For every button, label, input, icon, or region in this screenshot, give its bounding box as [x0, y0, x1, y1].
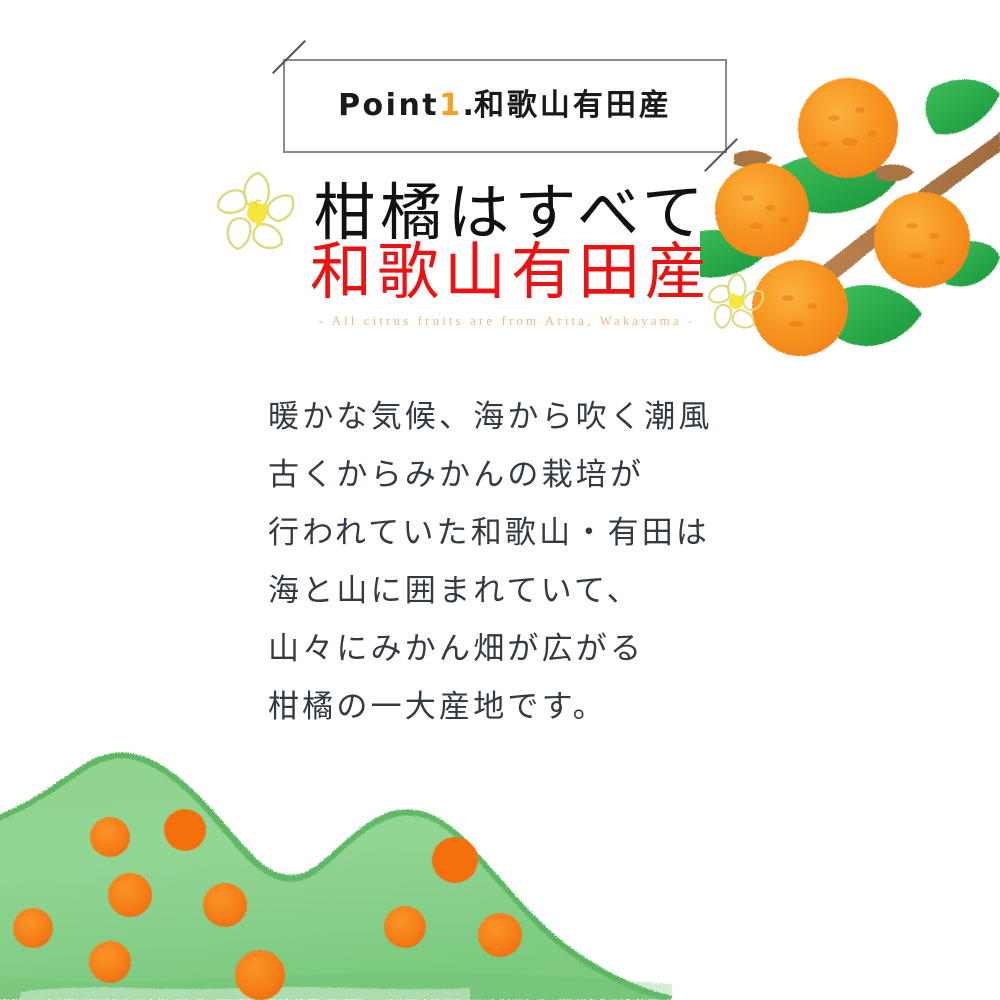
- point-badge-prefix: Point: [338, 88, 439, 123]
- point-badge-number: 1: [439, 88, 462, 123]
- point-badge-label: Point1.和歌山有田産: [285, 91, 725, 121]
- mandarin-branch-illustration: [700, 58, 1000, 408]
- point-badge-box: Point1.和歌山有田産: [283, 59, 727, 153]
- body-copy-line: 柑橘の一大産地です。: [268, 678, 788, 736]
- headline-subtitle: - All citrus fruits are from Arita, Waka…: [0, 313, 1000, 329]
- green-hills-illustration: [0, 730, 690, 1000]
- citrus-flower-large-icon: [212, 163, 302, 258]
- corner-slash-top-left-icon: [272, 40, 306, 74]
- headline-block: 柑橘はすべて 和歌山有田産 - All citrus fruits are fr…: [0, 183, 1000, 329]
- body-copy: 暖かな気候、海から吹く潮風 古くからみかんの栽培が 行われていた和歌山・有田は …: [268, 388, 788, 736]
- body-copy-line: 行われていた和歌山・有田は: [268, 504, 788, 562]
- body-copy-line: 古くからみかんの栽培が: [268, 446, 788, 504]
- corner-slash-bottom-right-icon: [704, 138, 738, 172]
- body-copy-line: 暖かな気候、海から吹く潮風: [268, 388, 788, 446]
- body-copy-line: 山々にみかん畑が広がる: [268, 620, 788, 678]
- headline-line-1: 柑橘はすべて: [0, 183, 1000, 246]
- point-badge-suffix: 和歌山有田産: [474, 88, 672, 123]
- citrus-flower-small-icon: [706, 268, 768, 334]
- headline-line-2: 和歌山有田産: [0, 242, 1000, 305]
- body-copy-line: 海と山に囲まれていて、: [268, 562, 788, 620]
- point-badge-separator: .: [463, 88, 474, 123]
- promo-page: Point1.和歌山有田産 柑橘はすべて 和歌山有田産 - All citrus…: [0, 0, 1000, 1000]
